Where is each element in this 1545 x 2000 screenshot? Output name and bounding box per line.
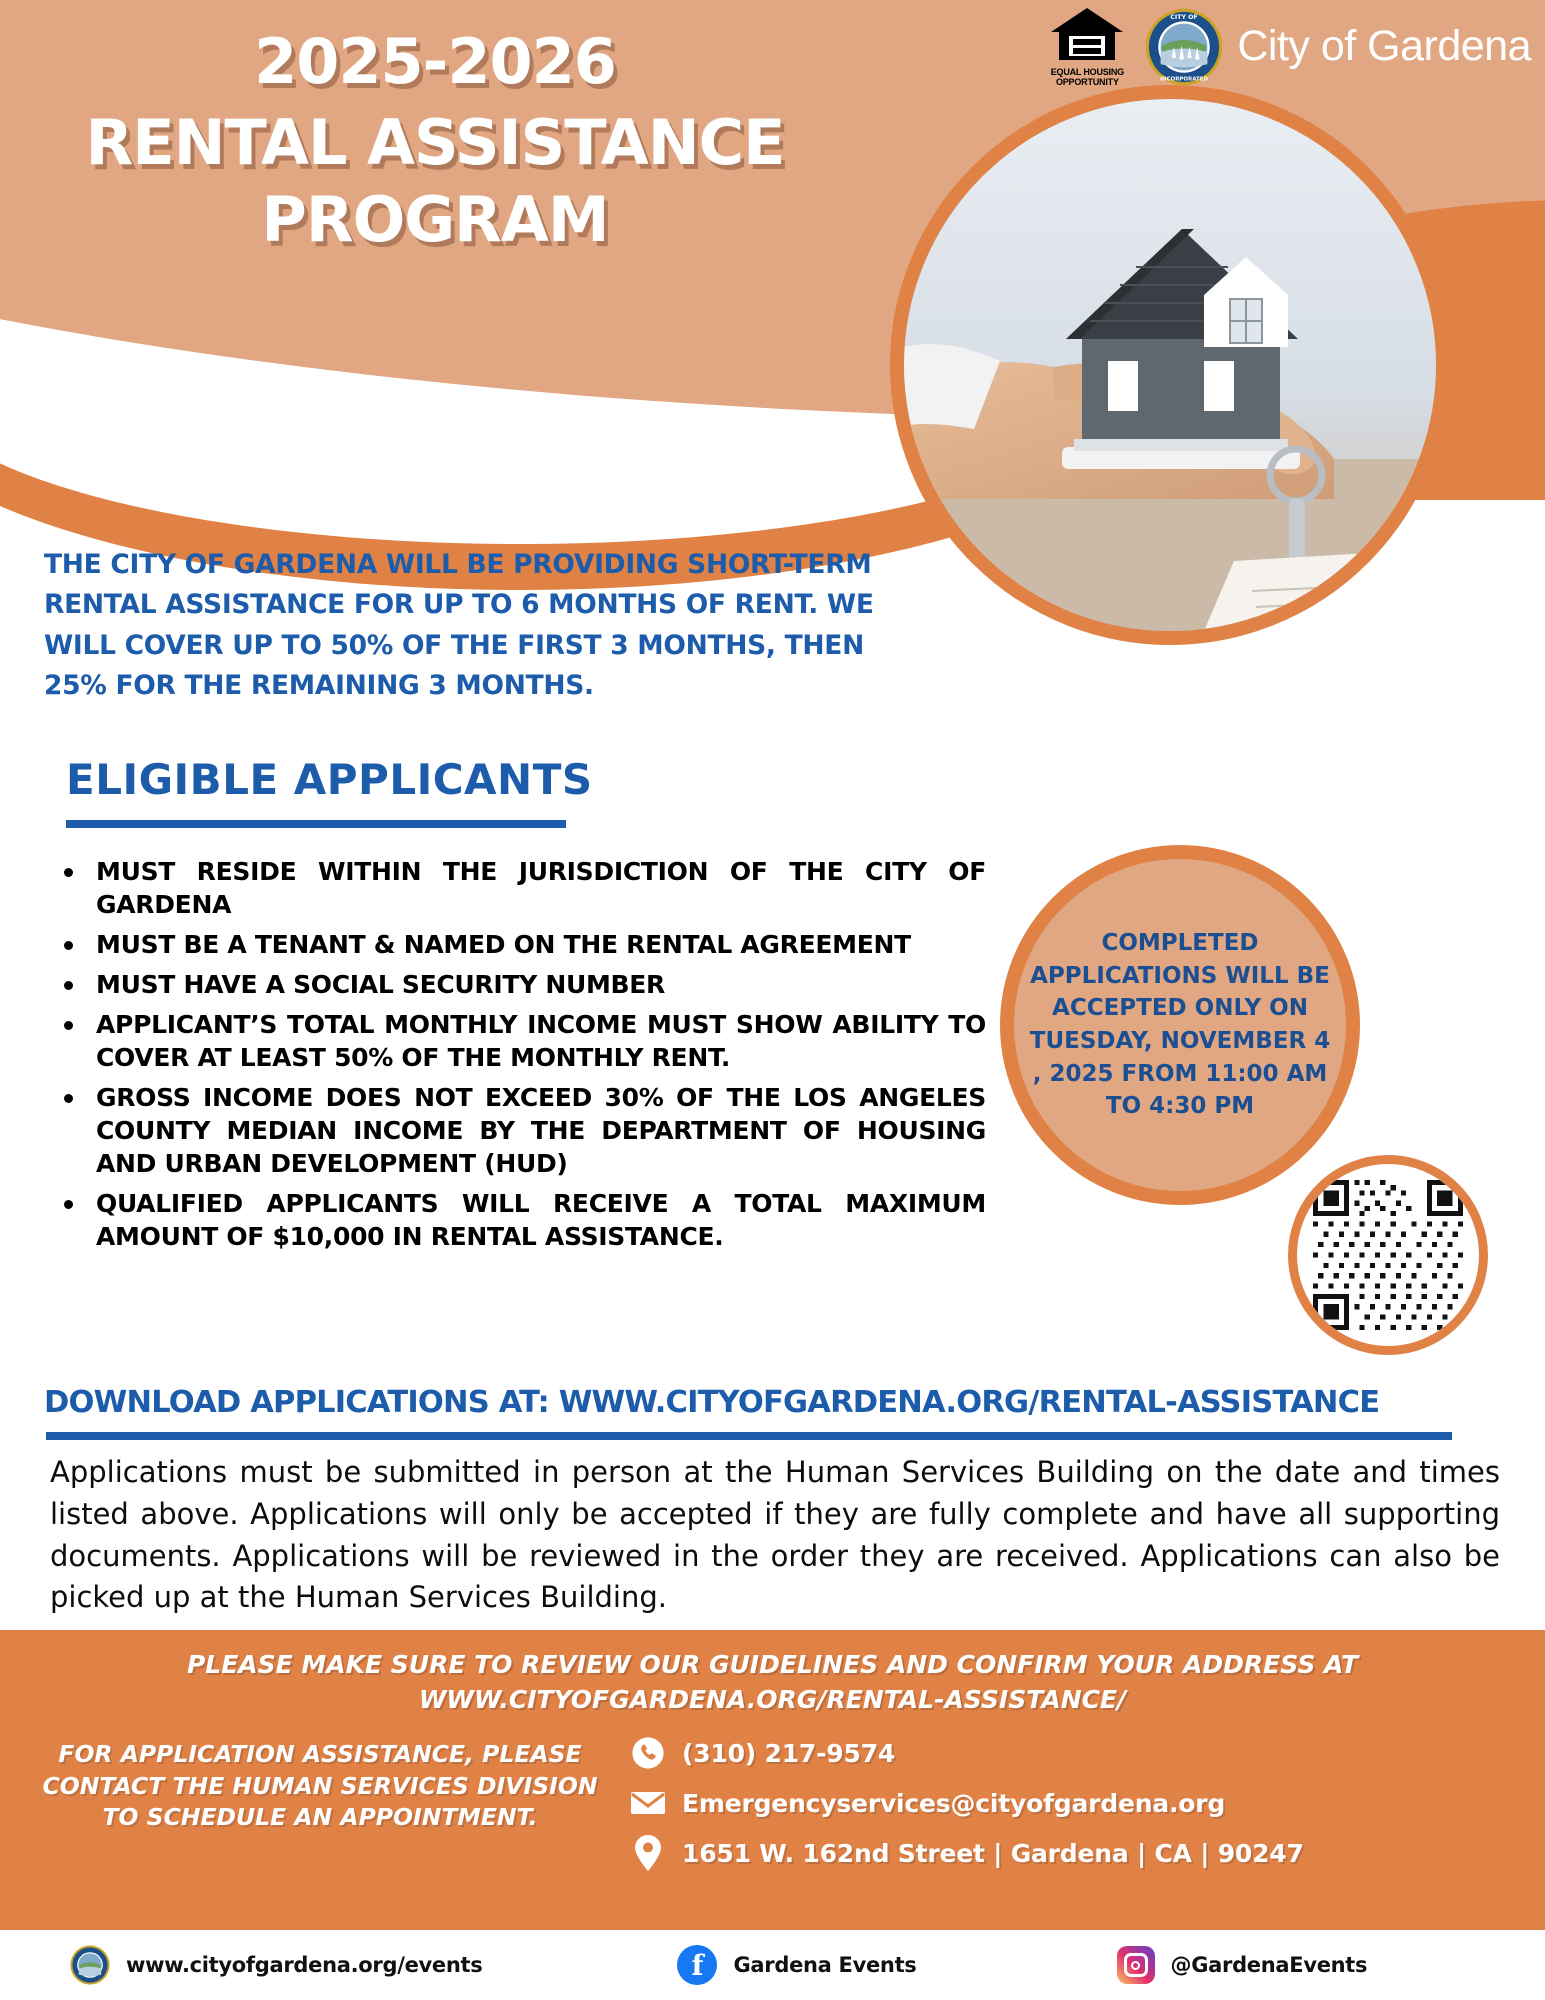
header-logos: EQUAL HOUSING OPPORTUNITY CITY OF INCORP… [1043, 6, 1531, 88]
eho-caption-line2: OPPORTUNITY [1043, 78, 1131, 87]
contact-phone-row[interactable]: (310) 217-9574 [630, 1735, 1505, 1771]
equal-housing-opportunity-logo: EQUAL HOUSING OPPORTUNITY [1043, 6, 1131, 88]
instagram-handle: @GardenaEvents [1171, 1953, 1368, 1977]
instagram-icon [1117, 1946, 1155, 1984]
city-of-gardena-seal-icon: CITY OF INCORPORATED [1145, 8, 1223, 86]
facebook-icon: f [677, 1945, 717, 1985]
eligible-applicants-heading: ELIGIBLE APPLICANTS [66, 755, 593, 804]
instructions-paragraph: Applications must be submitted in person… [50, 1452, 1500, 1619]
website-link[interactable]: www.cityofgardena.org/events [70, 1945, 482, 1985]
intro-paragraph: THE CITY OF GARDENA WILL BE PROVIDING SH… [44, 545, 914, 706]
email-address: Emergencyservices@cityofgardena.org [682, 1789, 1225, 1818]
list-item: MUST RESIDE WITHIN THE JURISDICTION OF T… [56, 855, 986, 921]
street-address: 1651 W. 162nd Street | Gardena | CA | 90… [682, 1839, 1304, 1868]
footer-columns: FOR APPLICATION ASSISTANCE, PLEASE CONTA… [0, 1735, 1545, 1885]
hand-holding-house-illustration [904, 99, 1436, 631]
map-pin-icon [630, 1835, 666, 1871]
flyer-title: 2025-2026 RENTAL ASSISTANCE PROGRAM [40, 30, 830, 252]
title-line-1: 2025-2026 [40, 30, 830, 93]
title-line-2: RENTAL ASSISTANCE [40, 111, 830, 174]
rental-assistance-flyer: EQUAL HOUSING OPPORTUNITY CITY OF INCORP… [0, 0, 1545, 2000]
phone-icon [630, 1735, 666, 1771]
list-item: MUST BE A TENANT & NAMED ON THE RENTAL A… [56, 928, 986, 961]
eligible-applicants-section: ELIGIBLE APPLICANTS [66, 755, 593, 828]
qr-code[interactable] [1288, 1155, 1488, 1355]
download-applications-link[interactable]: DOWNLOAD APPLICATIONS AT: WWW.CITYOFGARD… [44, 1385, 1499, 1420]
website-url: www.cityofgardena.org/events [126, 1953, 482, 1977]
facebook-handle: Gardena Events [733, 1953, 916, 1977]
svg-text:INCORPORATED: INCORPORATED [1160, 76, 1209, 82]
footer-banner: PLEASE MAKE SURE TO REVIEW OUR GUIDELINE… [0, 1630, 1545, 1930]
qr-code-icon[interactable] [1313, 1180, 1463, 1330]
list-item: QUALIFIED APPLICANTS WILL RECEIVE A TOTA… [56, 1187, 986, 1253]
footer-assistance-note: FOR APPLICATION ASSISTANCE, PLEASE CONTA… [40, 1735, 600, 1885]
list-item: GROSS INCOME DOES NOT EXCEED 30% OF THE … [56, 1081, 986, 1180]
footer-contact-block: (310) 217-9574 Emergencyservices@cityofg… [600, 1735, 1505, 1885]
list-item: APPLICANT’S TOTAL MONTHLY INCOME MUST SH… [56, 1008, 986, 1074]
envelope-icon [630, 1785, 666, 1821]
city-seal-icon [70, 1945, 110, 1985]
house-keys-photo [890, 85, 1450, 645]
application-date-badge: COMPLETED APPLICATIONS WILL BE ACCEPTED … [1000, 845, 1360, 1205]
equal-housing-opportunity-icon [1049, 6, 1125, 62]
contact-address-row: 1651 W. 162nd Street | Gardena | CA | 90… [630, 1835, 1505, 1871]
title-line-3: PROGRAM [40, 188, 830, 251]
eligibility-list: MUST RESIDE WITHIN THE JURISDICTION OF T… [56, 855, 986, 1260]
application-date-text: COMPLETED APPLICATIONS WILL BE ACCEPTED … [1014, 927, 1346, 1123]
svg-text:CITY OF: CITY OF [1171, 14, 1198, 21]
download-underline [46, 1432, 1452, 1440]
city-name-label: City of Gardena [1237, 22, 1531, 71]
list-item: MUST HAVE A SOCIAL SECURITY NUMBER [56, 968, 986, 1001]
footer-headline: PLEASE MAKE SURE TO REVIEW OUR GUIDELINE… [0, 1648, 1545, 1717]
social-links-bar: www.cityofgardena.org/events f Gardena E… [0, 1930, 1545, 2000]
contact-email-row[interactable]: Emergencyservices@cityofgardena.org [630, 1785, 1505, 1821]
heading-underline [66, 820, 566, 828]
facebook-link[interactable]: f Gardena Events [677, 1945, 916, 1985]
instagram-link[interactable]: @GardenaEvents [1117, 1946, 1368, 1984]
eho-caption-line1: EQUAL HOUSING [1043, 68, 1131, 77]
phone-number: (310) 217-9574 [682, 1739, 895, 1768]
